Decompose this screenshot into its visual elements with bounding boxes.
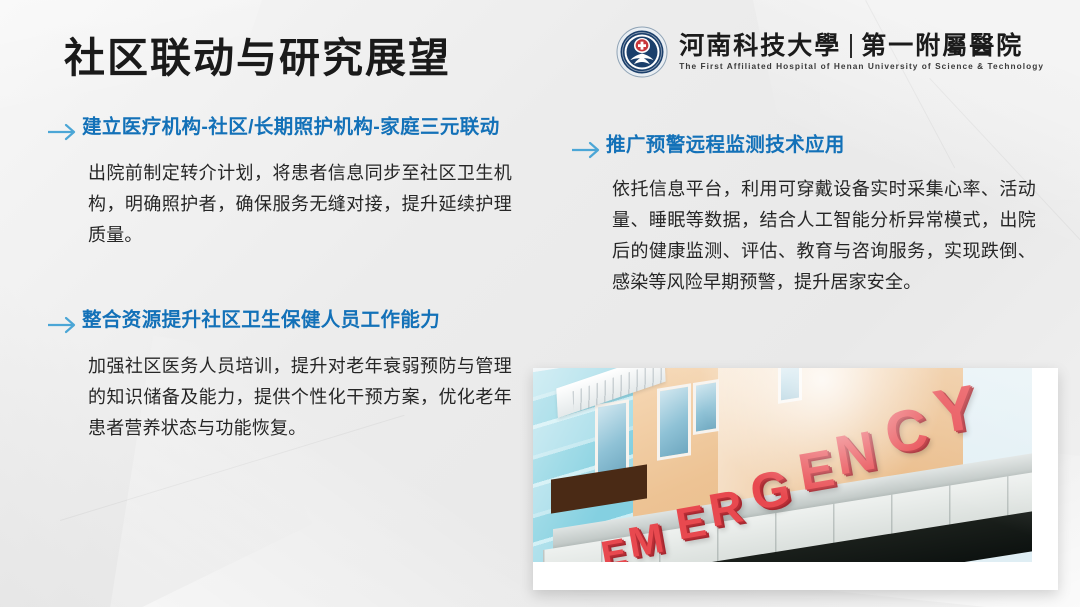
logo-english-name: The First Affiliated Hospital of Henan U… (679, 62, 1044, 70)
content-block-body: 推广预警远程监测技术应用 依托信息平台，利用可穿戴设备实时采集心率、活动量、睡眠… (606, 130, 1036, 298)
arrow-right-icon (42, 310, 82, 340)
block-heading: 推广预警远程监测技术应用 (606, 130, 1036, 160)
logo-text-group: 河南科技大學 第一附屬醫院 The First Affiliated Hospi… (679, 34, 1044, 70)
block-heading: 建立医疗机构-社区/长期照护机构-家庭三元联动 (82, 112, 512, 142)
logo-chinese-line: 河南科技大學 第一附屬醫院 (679, 34, 1044, 59)
slide-canvas: 社区联动与研究展望 河南科技大學 第一附屬醫院 The First Affi (0, 0, 1080, 607)
content-block-body: 建立医疗机构-社区/长期照护机构-家庭三元联动 出院前制定转介计划，将患者信息同… (82, 112, 512, 251)
right-content-column: 推广预警远程监测技术应用 依托信息平台，利用可穿戴设备实时采集心率、活动量、睡眠… (566, 130, 1036, 298)
block-paragraph: 依托信息平台，利用可穿戴设备实时采集心率、活动量、睡眠等数据，结合人工智能分析异… (606, 174, 1036, 298)
block-paragraph: 加强社区医务人员培训，提升对老年衰弱预防与管理的知识储备及能力，提供个性化干预方… (82, 351, 512, 444)
arrow-right-icon (42, 117, 82, 147)
content-block-body: 整合资源提升社区卫生保健人员工作能力 加强社区医务人员培训，提升对老年衰弱预防与… (82, 305, 512, 444)
logo-hospital-name: 第一附屬醫院 (861, 34, 1023, 59)
block-paragraph: 出院前制定转介计划，将患者信息同步至社区卫生机构，明确照护者，确保服务无缝对接，… (82, 158, 512, 251)
logo-university-name: 河南科技大學 (679, 34, 841, 59)
hospital-emergency-entrance-photo: E M E R G E N C Y (533, 368, 1032, 562)
page-title: 社区联动与研究展望 (64, 36, 451, 82)
block-heading: 整合资源提升社区卫生保健人员工作能力 (82, 305, 512, 335)
content-block: 推广预警远程监测技术应用 依托信息平台，利用可穿戴设备实时采集心率、活动量、睡眠… (566, 130, 1036, 298)
content-block: 建立医疗机构-社区/长期照护机构-家庭三元联动 出院前制定转介计划，将患者信息同… (42, 112, 512, 251)
logo-divider (850, 34, 852, 58)
arrow-right-icon (566, 135, 606, 165)
photo-glare (533, 368, 1032, 562)
content-block: 整合资源提升社区卫生保健人员工作能力 加强社区医务人员培训，提升对老年衰弱预防与… (42, 305, 512, 444)
hospital-logo: 河南科技大學 第一附屬醫院 The First Affiliated Hospi… (616, 26, 1044, 78)
photo-card: E M E R G E N C Y (533, 368, 1058, 590)
hospital-emblem-icon (616, 26, 668, 78)
left-content-column: 建立医疗机构-社区/长期照护机构-家庭三元联动 出院前制定转介计划，将患者信息同… (42, 112, 512, 444)
